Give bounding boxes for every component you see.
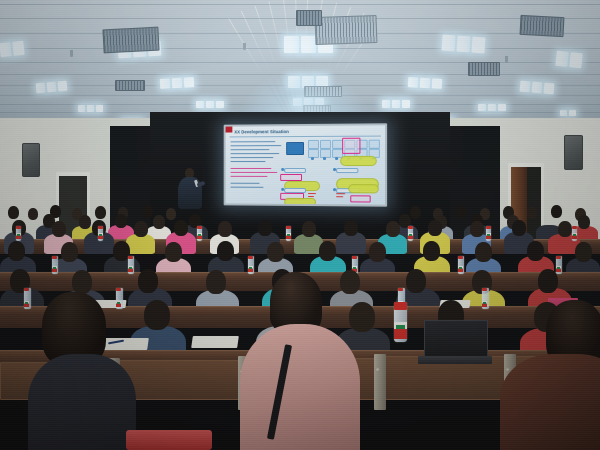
ceiling-light-fixture <box>408 77 442 89</box>
attendee-head <box>72 270 92 294</box>
slide-text-line <box>230 153 279 154</box>
ceiling-light-fixture <box>478 104 506 111</box>
slide-icon-cell <box>308 149 319 158</box>
hvac-vent <box>315 15 378 45</box>
slide-icon-cell <box>308 140 319 149</box>
lecture-hall-photo: XX Development Situation <box>0 0 600 450</box>
slide-bullet-dot <box>281 168 284 171</box>
conference-booklet[interactable] <box>126 430 212 450</box>
ceiling-light-fixture <box>0 41 25 57</box>
attendee-body <box>500 354 600 450</box>
attendee-head <box>575 242 592 262</box>
projection-screen: XX Development Situation <box>224 123 387 206</box>
slide-icon-dot <box>335 157 338 160</box>
slide-accent-mark <box>226 127 233 133</box>
slide-subheading <box>284 168 306 173</box>
attendee-head <box>340 270 360 294</box>
attendee-head <box>258 220 272 236</box>
attendee-head <box>428 220 442 236</box>
desk-privacy-panel <box>118 360 240 400</box>
attendee-head <box>423 241 440 261</box>
slide-text-line <box>230 145 281 147</box>
attendee-body <box>240 324 360 450</box>
slide-text-line <box>230 149 269 150</box>
sprinkler-icon <box>505 56 508 63</box>
laptop-base[interactable] <box>418 356 492 364</box>
slide-bullet-dot <box>333 168 336 171</box>
presentation-slide: XX Development Situation <box>226 125 385 204</box>
slide-text-line <box>230 141 275 143</box>
attendee-head <box>344 220 358 236</box>
slide-text-line <box>230 187 263 189</box>
slide-bullet-dot <box>281 188 284 191</box>
ceiling-light-fixture <box>441 35 485 54</box>
slide-icon-cell <box>320 149 331 158</box>
slide-icon-dot <box>311 157 314 160</box>
ceiling-light-fixture <box>160 77 194 89</box>
slide-text-line <box>230 172 277 173</box>
ceiling-light-fixture <box>78 105 103 112</box>
attendee-head <box>52 221 66 237</box>
attendee-head <box>512 220 526 236</box>
attendee-head <box>319 241 336 261</box>
attendee-head <box>134 221 148 237</box>
slide-text-line <box>230 161 265 162</box>
sprinkler-icon <box>243 43 246 50</box>
sprinkler-icon <box>70 50 73 57</box>
slide-subheading <box>336 168 358 173</box>
handout-paper[interactable] <box>191 336 239 348</box>
slide-data-bar <box>308 193 316 194</box>
water-bottle[interactable] <box>394 302 407 342</box>
hvac-vent <box>468 62 500 76</box>
slide-icon-dot <box>323 157 326 160</box>
attendee-head <box>538 269 558 293</box>
slide-text-line <box>230 176 267 177</box>
slide-highlight-box <box>342 138 360 154</box>
slide-icon-cell <box>369 140 380 149</box>
desk-bolt <box>376 368 380 372</box>
attendee-head <box>217 241 234 261</box>
attendee-head <box>144 300 170 330</box>
slide-text-line <box>230 168 271 169</box>
slide-callout <box>340 156 377 166</box>
slide-text-line <box>230 183 259 184</box>
slide-callout <box>348 184 379 193</box>
ceiling-light-fixture <box>560 110 576 116</box>
attendee-head <box>470 221 484 237</box>
hvac-vent <box>520 15 565 37</box>
attendee-head <box>349 302 375 332</box>
laptop-screen[interactable] <box>424 320 488 360</box>
hvac-vent <box>296 10 322 26</box>
attendee-head <box>369 242 386 262</box>
slide-icon-cell <box>286 142 304 155</box>
attendee-head <box>406 269 426 293</box>
wall-speaker <box>564 135 583 170</box>
attendee-head <box>8 241 25 261</box>
hvac-vent <box>115 80 145 91</box>
slide-text-line <box>230 157 273 158</box>
attendee-head <box>267 242 284 262</box>
attendee-head <box>527 241 544 261</box>
attendee-head <box>475 242 492 262</box>
hvac-vent <box>102 27 159 54</box>
slide-title: XX Development Situation <box>234 129 289 134</box>
ceiling-light-fixture <box>555 51 582 69</box>
attendee-head <box>174 220 188 236</box>
attendee-head <box>218 221 232 237</box>
attendee-body <box>28 354 136 450</box>
slide-data-bar <box>336 193 345 194</box>
attendee-head <box>165 242 182 262</box>
attendee-head <box>206 270 226 294</box>
slide-bullet-dot <box>333 188 336 191</box>
wall-speaker <box>22 143 40 177</box>
slide-highlight-box <box>280 174 302 181</box>
slide-icon-cell <box>320 140 331 149</box>
attendee-head <box>138 269 158 293</box>
attendee-head <box>386 221 400 237</box>
desk-support-post <box>374 354 386 410</box>
attendee-head <box>558 221 572 237</box>
attendee-head <box>61 242 78 262</box>
ceiling-light-fixture <box>382 100 410 108</box>
ceiling-light-fixture <box>196 101 224 108</box>
attendee-head <box>302 221 316 237</box>
